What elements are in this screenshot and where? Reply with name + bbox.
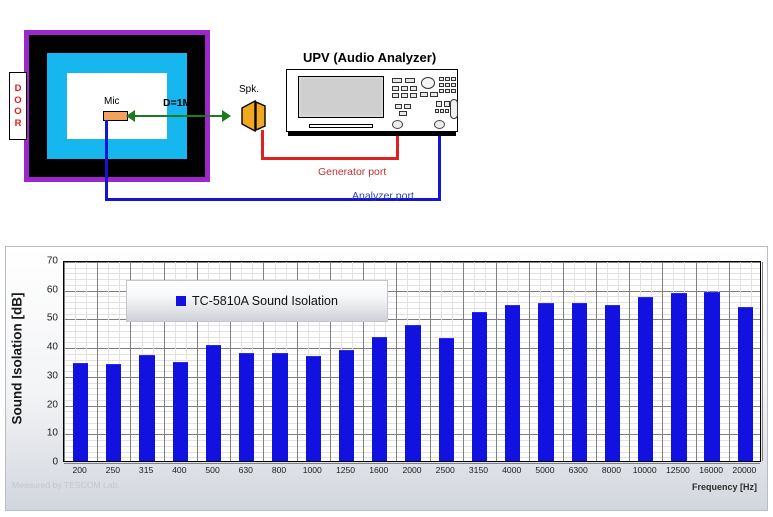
bar	[139, 355, 154, 461]
y-axis-tick: 60	[47, 284, 58, 295]
analyzer-keypad-key	[439, 77, 444, 81]
bar	[339, 350, 354, 461]
gridline-major-v	[762, 262, 763, 461]
y-axis-tick: 20	[47, 399, 58, 410]
x-axis-tick: 20000	[732, 465, 756, 475]
x-axis-tick: 250	[106, 465, 120, 475]
bar	[538, 303, 553, 461]
microphone-label: Mic	[104, 96, 120, 107]
y-axis-title: Sound Isolation [dB]	[4, 251, 30, 466]
y-axis-tick-labels: 010203040506070	[30, 261, 61, 462]
x-axis-tick: 200	[72, 465, 86, 475]
x-axis-tick: 800	[272, 465, 286, 475]
x-axis-tick: 3150	[469, 465, 488, 475]
plot-area: TC-5810A Sound Isolation	[63, 261, 761, 462]
y-axis-tick: 10	[47, 428, 58, 439]
analyzer-button	[410, 93, 417, 98]
x-axis-tick: 8000	[602, 465, 621, 475]
x-axis-tick: 2500	[436, 465, 455, 475]
generator-port-connector	[392, 120, 403, 129]
analyzer-keypad-key	[435, 109, 439, 113]
analyzer-keypad-key	[445, 77, 450, 81]
x-axis-tick: 630	[239, 465, 253, 475]
door-letter-o1: O	[14, 95, 21, 107]
bar	[206, 345, 221, 461]
bar	[173, 362, 188, 461]
bar	[439, 338, 454, 461]
analyzer-screen	[298, 76, 384, 118]
bar	[272, 353, 287, 461]
chart-legend: TC-5810A Sound Isolation	[126, 280, 388, 322]
y-axis-title-text: Sound Isolation [dB]	[10, 293, 25, 425]
upv-audio-analyzer	[286, 69, 458, 132]
x-axis-tick: 1250	[336, 465, 355, 475]
analyzer-button	[392, 78, 402, 83]
bar	[572, 303, 587, 461]
arrow-left-icon	[126, 110, 135, 122]
bar	[738, 307, 753, 461]
analyzer-button	[392, 93, 399, 98]
analyzer-keypad-key	[439, 89, 444, 93]
analyzer-button	[410, 86, 417, 91]
door-letter-o2: O	[14, 106, 21, 118]
x-axis-tick: 4000	[502, 465, 521, 475]
distance-label: D=1M	[163, 97, 191, 109]
x-axis-tick: 6300	[569, 465, 588, 475]
gridline-major-h	[64, 463, 760, 464]
x-axis-title: Frequency [Hz]	[692, 482, 757, 492]
bar	[638, 297, 653, 461]
x-axis-tick-labels: 2002503154005006308001000125016002000250…	[63, 465, 761, 481]
x-axis-tick: 1000	[303, 465, 322, 475]
analyzer-keypad-key	[445, 109, 449, 113]
bar	[73, 363, 88, 461]
bar	[605, 305, 620, 461]
y-axis-tick: 0	[52, 457, 58, 468]
analyzer-base	[288, 131, 456, 136]
legend-label: TC-5810A Sound Isolation	[192, 294, 338, 308]
microphone-cable-vertical	[105, 120, 108, 200]
screenshot-root: D O O R Mic D=1M Spk. UPV (Audio Analyze…	[0, 0, 773, 517]
y-axis-tick: 50	[47, 313, 58, 324]
analyzer-button	[404, 104, 411, 109]
analyzer-title: UPV (Audio Analyzer)	[303, 50, 436, 65]
analyzer-button	[420, 92, 428, 97]
analyzer-port-connector	[434, 120, 445, 129]
analyzer-button	[399, 111, 407, 116]
speaker-label: Spk.	[239, 84, 259, 95]
analyzer-keypad-key	[445, 89, 450, 93]
x-axis-tick: 400	[172, 465, 186, 475]
analyzer-keypad-key	[451, 83, 456, 87]
x-axis-tick: 10000	[633, 465, 657, 475]
analyzer-button	[401, 86, 408, 91]
analyzer-keypad-key	[440, 109, 444, 113]
bar	[704, 292, 719, 461]
x-axis-tick: 5000	[535, 465, 554, 475]
door-letter-r: R	[15, 118, 22, 130]
legend-color-swatch	[176, 296, 186, 306]
bar	[505, 305, 520, 461]
analyzer-front-slot	[309, 124, 373, 128]
bar	[239, 353, 254, 461]
analyzer-keypad-key	[445, 83, 450, 87]
y-axis-tick: 40	[47, 342, 58, 353]
speaker-cable-horizontal	[261, 157, 399, 160]
measurement-credit: Measured by TESCOM Lab.	[12, 480, 120, 490]
analyzer-button	[401, 93, 408, 98]
bar	[306, 356, 321, 461]
analyzer-button	[430, 92, 438, 97]
y-axis-tick: 30	[47, 370, 58, 381]
analyzer-port-label: Analyzer port	[352, 190, 414, 202]
sound-isolation-chart-panel: Sound Isolation [dB] 010203040506070 TC-…	[5, 246, 768, 511]
measurement-setup-diagram: D O O R Mic D=1M Spk. UPV (Audio Analyze…	[0, 0, 773, 235]
door-letter-d: D	[15, 83, 22, 95]
bar	[671, 293, 686, 461]
x-axis-tick: 16000	[699, 465, 723, 475]
analyzer-cable-vertical	[438, 130, 441, 201]
bar	[372, 337, 387, 461]
x-axis-tick: 12500	[666, 465, 690, 475]
analyzer-button	[405, 78, 415, 83]
analyzer-keypad-key	[439, 83, 444, 87]
bar	[405, 325, 420, 461]
y-axis-tick: 70	[47, 256, 58, 267]
analyzer-keypad-key	[436, 101, 442, 107]
x-axis-tick: 1600	[369, 465, 388, 475]
analyzer-button	[392, 86, 399, 91]
speaker-icon	[241, 100, 267, 132]
x-axis-tick: 315	[139, 465, 153, 475]
door-label: D O O R	[9, 72, 27, 140]
bar	[106, 364, 121, 461]
x-axis-tick: 2000	[402, 465, 421, 475]
arrow-right-icon	[222, 110, 231, 122]
analyzer-keypad-key	[451, 77, 456, 81]
x-axis-tick: 500	[205, 465, 219, 475]
bar	[472, 312, 487, 461]
analyzer-slider-icon	[450, 99, 458, 119]
distance-line	[130, 115, 228, 117]
analyzer-button	[395, 104, 402, 109]
analyzer-keypad-key	[451, 89, 456, 93]
speaker-cable-vertical	[261, 130, 264, 160]
analyzer-screen-surface	[301, 79, 381, 115]
generator-port-label: Generator port	[318, 166, 386, 178]
analyzer-knob-icon	[421, 77, 435, 89]
